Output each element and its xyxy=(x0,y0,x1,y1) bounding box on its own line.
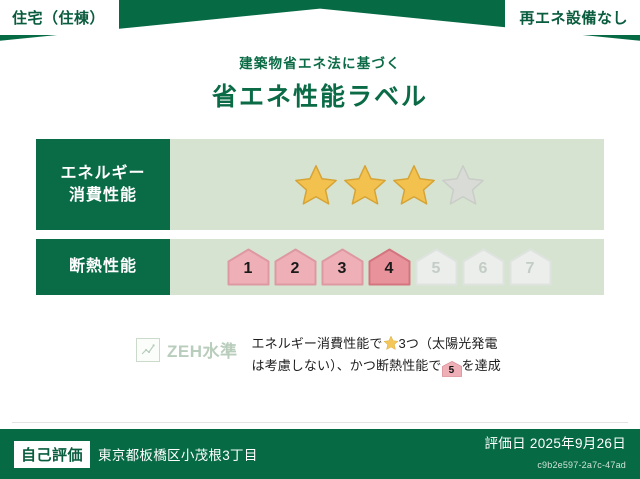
zeh-desc-part1: エネルギー消費性能で xyxy=(252,336,383,351)
insulation-badge-value: 5 xyxy=(432,261,441,286)
zeh-description: エネルギー消費性能で 3つ（太陽光発電 は考慮しない）、かつ断熱性能で 5 を達… xyxy=(252,333,501,378)
insulation-badges: 1234567 xyxy=(227,248,552,286)
insulation-badge-value: 7 xyxy=(526,261,535,286)
insulation-level-scale: 1234567 xyxy=(170,239,604,295)
zeh-chart-icon xyxy=(136,338,160,362)
rating-rows: エネルギー 消費性能 断熱性能 1234567 xyxy=(36,139,604,304)
row-energy-performance: エネルギー 消費性能 xyxy=(36,139,604,230)
zeh-desc-part4: を達成 xyxy=(462,358,501,373)
footer-right: 評価日 2025年9月26日 c9b2e597-2a7c-47ad xyxy=(484,434,626,474)
row-energy-label: エネルギー 消費性能 xyxy=(36,139,170,230)
star-filled-icon xyxy=(342,163,388,207)
insulation-badge-2: 2 xyxy=(274,248,317,286)
insulation-badge-value: 6 xyxy=(479,261,488,286)
zeh-desc-part2: 3つ（太陽光発電 xyxy=(399,336,498,351)
zeh-name: ZEH水準 xyxy=(167,337,238,362)
insulation-badge-value: 3 xyxy=(338,261,347,286)
footer-divider xyxy=(12,422,628,423)
inline-star-icon xyxy=(383,335,399,351)
inline-level-badge-value: 5 xyxy=(442,361,462,380)
energy-star-rating xyxy=(170,139,604,230)
insulation-badge-7: 7 xyxy=(509,248,552,286)
property-address: 東京都板橋区小茂根3丁目 xyxy=(98,444,258,464)
row-energy-label-line2: 消費性能 xyxy=(69,185,137,207)
evaluation-date: 評価日 2025年9月26日 xyxy=(484,436,626,451)
star-filled-icon xyxy=(391,163,437,207)
title-main: 省エネ性能ラベル xyxy=(0,77,640,113)
insulation-badge-6: 6 xyxy=(462,248,505,286)
zeh-desc-part3: は考慮しない）、かつ断熱性能で xyxy=(252,358,442,373)
zeh-section: ZEH水準 エネルギー消費性能で 3つ（太陽光発電 は考慮しない）、かつ断熱性能… xyxy=(36,333,604,378)
row-energy-label-line1: エネルギー xyxy=(60,163,145,185)
insulation-badge-4: 4 xyxy=(368,248,411,286)
insulation-badge-1: 1 xyxy=(227,248,270,286)
insulation-badge-value: 2 xyxy=(291,261,300,286)
renewable-energy-label: 再エネ設備なし xyxy=(519,7,628,28)
renewable-energy-tag: 再エネ設備なし xyxy=(505,0,640,35)
row-insulation-label: 断熱性能 xyxy=(36,239,170,295)
footer: 自己評価 東京都板橋区小茂根3丁目 評価日 2025年9月26日 c9b2e59… xyxy=(0,429,640,479)
self-evaluation-badge: 自己評価 xyxy=(14,441,90,468)
insulation-badge-5: 5 xyxy=(415,248,458,286)
label-hash-id: c9b2e597-2a7c-47ad xyxy=(537,460,626,470)
insulation-badge-value: 4 xyxy=(385,261,394,286)
building-type-label: 住宅（住棟） xyxy=(12,7,105,28)
insulation-badge-value: 1 xyxy=(244,261,253,286)
row-insulation-label-line1: 断熱性能 xyxy=(69,256,137,278)
zeh-mark: ZEH水準 xyxy=(36,333,238,362)
building-type-tag: 住宅（住棟） xyxy=(0,0,119,35)
page-title: 建築物省エネ法に基づく 省エネ性能ラベル xyxy=(0,52,640,113)
inline-level-badge: 5 xyxy=(442,361,462,377)
star-empty-icon xyxy=(440,163,486,207)
star-filled-icon xyxy=(293,163,339,207)
row-insulation-performance: 断熱性能 1234567 xyxy=(36,239,604,295)
insulation-badge-3: 3 xyxy=(321,248,364,286)
energy-performance-label: 住宅（住棟） 再エネ設備なし 建築物省エネ法に基づく 省エネ性能ラベル エネルギ… xyxy=(0,0,640,479)
title-subtitle: 建築物省エネ法に基づく xyxy=(0,52,640,72)
